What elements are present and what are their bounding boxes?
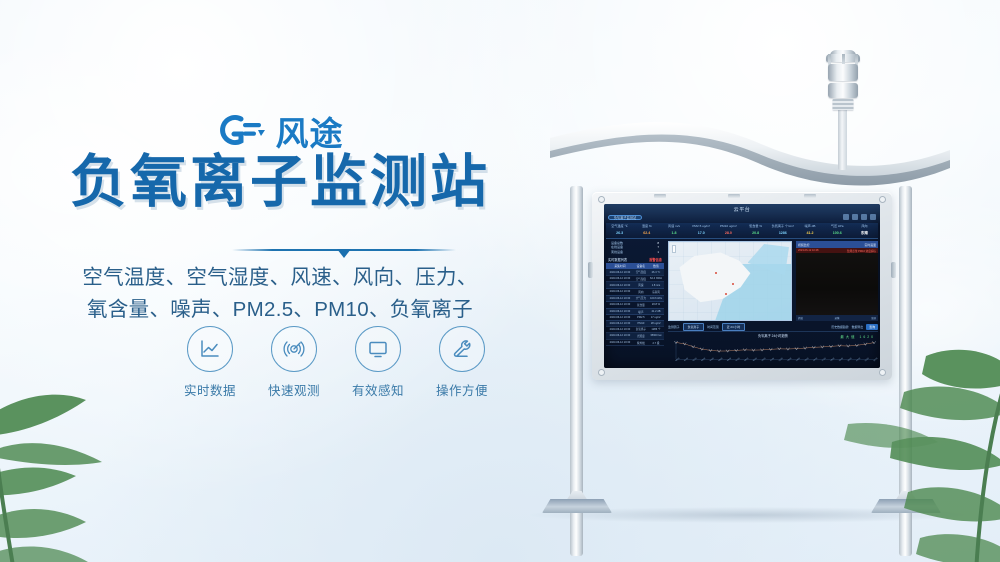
table-cell: 2023-06-12 10:30	[606, 326, 634, 333]
metric-label: 气压 kPa	[824, 223, 851, 230]
table-cell: 空气湿度	[634, 275, 648, 282]
metric-item: 氧含量 %20.8	[742, 223, 769, 238]
metric-item: 风速 m/s1.8	[660, 223, 687, 238]
table-cell: 2023-06-12 10:30	[606, 282, 634, 289]
wrench-icon	[439, 326, 485, 372]
svg-text:05:00: 05:00	[718, 358, 723, 362]
ultrasonic-weather-sensor-icon	[816, 52, 870, 124]
video-controls[interactable]: 抓拍 录像 全屏	[796, 315, 878, 321]
svg-text:01:00: 01:00	[684, 358, 689, 362]
hinge-icon	[588, 262, 593, 278]
metric-item: 负氧离子 个/cm³1286	[769, 223, 796, 238]
base-plate-left	[542, 491, 612, 513]
metric-label: 风速 m/s	[660, 223, 687, 230]
summary-label: 离线设备	[611, 250, 623, 254]
table-cell: 2023-06-12 10:30	[606, 333, 634, 340]
video-tag: 实时画面	[864, 243, 876, 247]
table-row[interactable]: 2023-06-12 10:30大气压力100.6 kPa	[606, 295, 664, 302]
table-row[interactable]: 2023-06-12 10:30噪声41.2 dB	[606, 308, 664, 315]
alert-badge[interactable]: 报警信息	[649, 257, 662, 262]
feature-item-easy-operation[interactable]: 操作方便	[428, 326, 496, 399]
table-row[interactable]: 2023-06-12 10:30紫外线2.7 级	[606, 339, 664, 346]
table-cell: 62.4 %RH	[648, 275, 664, 282]
table-row[interactable]: 2023-06-12 10:30风速1.8 m/s	[606, 282, 664, 289]
table-row[interactable]: 2023-06-12 10:30负氧离子1286 个	[606, 326, 664, 333]
station-map[interactable]	[668, 241, 792, 321]
metric-item: 噪声 dB41.2	[796, 223, 823, 238]
chart-toolbar[interactable]: 监测因子 负氧离子 时间范围 近 24 小时 历史数据趋势 数据导出 查询	[668, 323, 878, 332]
table-heading-row: 实时数据列表 报警信息	[606, 257, 664, 262]
svg-text:06:00: 06:00	[727, 358, 732, 362]
svg-text:12:00: 12:00	[779, 358, 784, 362]
metric-strip: 空气温度 ℃26.3湿度 %62.4风速 m/s1.8PM2.5 ug/m³17…	[606, 223, 878, 239]
feature-label: 操作方便	[428, 380, 496, 399]
metric-item: PM2.5 ug/m³17.0	[688, 223, 715, 238]
fengtu-g-logo-icon	[217, 112, 269, 153]
canopy-roof	[546, 116, 956, 198]
svg-text:14:00: 14:00	[796, 358, 801, 362]
table-cell: 2023-06-12 10:30	[606, 339, 634, 346]
metric-label: 噪声 dB	[796, 223, 823, 230]
metric-label: 风向	[851, 223, 878, 230]
dashboard-title: 云平台	[604, 206, 880, 213]
bolt-icon	[598, 369, 605, 376]
metric-item: PM10 ug/m³28.0	[715, 223, 742, 238]
metric-item: 湿度 %62.4	[633, 223, 660, 238]
brand-logo: 风途	[0, 112, 560, 153]
table-cell: 2023-06-12 10:30	[606, 289, 634, 296]
factor-select[interactable]: 负氧离子	[683, 323, 705, 331]
table-cell: 氧含量	[634, 302, 648, 309]
range-select-label: 时间范围	[707, 325, 719, 329]
metric-label: 湿度 %	[633, 223, 660, 230]
svg-text:13:00: 13:00	[787, 358, 792, 362]
table-cell: 2023-06-12 10:30	[606, 302, 634, 309]
svg-text:11:00: 11:00	[770, 358, 775, 362]
left-panel: 设备总数8在线设备7离线设备1 实时数据列表 报警信息 采集时间设备名数值 20…	[606, 241, 664, 346]
metric-value: 26.3	[606, 230, 633, 237]
bolt-icon	[879, 196, 886, 203]
title-divider	[232, 245, 456, 259]
video-title-bar: 视频监控 实时画面	[796, 241, 878, 248]
metric-value: 1286	[769, 230, 796, 237]
table-cell: 2023-06-12 10:30	[606, 295, 634, 302]
realtime-data-table[interactable]: 采集时间设备名数值 2023-06-12 10:30空气温度26.3 ℃2023…	[606, 263, 664, 346]
metric-item: 风向东南	[851, 223, 878, 238]
metric-value: 东南	[851, 230, 878, 237]
device-summary: 设备总数8在线设备7离线设备1	[606, 241, 664, 254]
metric-value: 62.4	[633, 230, 660, 237]
decorative-plant-left	[0, 352, 180, 562]
query-button[interactable]: 查询	[866, 324, 878, 330]
table-cell: 2023-06-12 10:30	[606, 308, 634, 315]
table-cell: 100.6 kPa	[648, 295, 664, 302]
table-cell: 风向	[634, 289, 648, 296]
metric-value: 1.8	[660, 230, 687, 237]
brand-name: 风途	[276, 117, 344, 150]
feature-label: 实时数据	[176, 380, 244, 399]
video-snapshot-button[interactable]: 抓拍	[798, 316, 803, 320]
feature-label: 快速观测	[260, 380, 328, 399]
metric-value: 100.6	[824, 230, 851, 237]
feature-item-realtime-data[interactable]: 实时数据	[176, 326, 244, 399]
user-icon[interactable]	[870, 214, 876, 220]
map-zoom-control[interactable]	[672, 245, 676, 253]
dashboard-toolbar-icons[interactable]	[843, 214, 876, 220]
range-select[interactable]: 近 24 小时	[722, 323, 746, 331]
feature-item-fast-observation[interactable]: 快速观测	[260, 326, 328, 399]
video-fullscreen-button[interactable]: 全屏	[871, 316, 876, 320]
metric-label: PM2.5 ug/m³	[688, 223, 715, 230]
table-cell: 41.2 dB	[648, 308, 664, 315]
table-row[interactable]: 2023-06-12 10:30氧含量20.8 %	[606, 302, 664, 309]
alert-message: 监测点位 PM10 浓度超标	[847, 249, 876, 253]
svg-text:16:00: 16:00	[813, 358, 818, 362]
chart-icon[interactable]	[852, 214, 858, 220]
radar-scan-icon	[271, 326, 317, 372]
metric-label: 氧含量 %	[742, 223, 769, 230]
svg-text:07:00: 07:00	[736, 358, 741, 362]
subtitle-line-1: 空气温度、空气湿度、风速、风向、压力、	[82, 266, 477, 289]
export-tip[interactable]: 数据导出	[852, 325, 864, 329]
table-cell: 负氧离子	[634, 326, 648, 333]
summary-value: 1	[657, 250, 659, 254]
bolt-icon	[598, 196, 605, 203]
metric-label: 空气温度 ℃	[606, 223, 633, 230]
table-cell: 紫外线	[634, 339, 648, 346]
trend-tip: 历史数据趋势	[831, 325, 848, 329]
table-heading: 实时数据列表	[608, 257, 627, 262]
table-cell: 1.8 m/s	[648, 282, 664, 289]
svg-text:09:00: 09:00	[753, 358, 758, 362]
metric-item: 空气温度 ℃26.3	[606, 223, 633, 238]
table-cell: 20.8 %	[648, 302, 664, 309]
table-cell: 1286 个	[648, 326, 664, 333]
svg-text:08:00: 08:00	[744, 358, 749, 362]
metric-item: 气压 kPa100.6	[824, 223, 851, 238]
summary-row: 离线设备1	[606, 250, 664, 254]
table-cell: 噪声	[634, 308, 648, 315]
dashboard-screen[interactable]: 云平台 负氧离子监测站 空气温度 ℃26.3湿度 %62.4风速 m/s1.8P…	[604, 204, 880, 368]
metric-label: PM10 ug/m³	[715, 223, 742, 230]
subtitle-line-2: 氧含量、噪声、PM2.5、PM10、负氧离子	[0, 294, 560, 326]
table-cell: 光照度	[634, 333, 648, 340]
feature-item-effective-sensing[interactable]: 有效感知	[344, 326, 412, 399]
line-chart-icon	[187, 326, 233, 372]
monitor-icon	[355, 326, 401, 372]
video-title: 视频监控	[798, 243, 810, 247]
table-row[interactable]: 2023-06-12 10:30光照度35600 lux	[606, 333, 664, 340]
table-cell: 风速	[634, 282, 648, 289]
feature-list: 实时数据 快速观测 有效感知	[176, 326, 496, 399]
factor-select-label: 监测因子	[668, 325, 680, 329]
divider-triangle-icon	[337, 249, 351, 258]
table-row[interactable]: 2023-06-12 10:30空气湿度62.4 %RH	[606, 275, 664, 282]
feature-label: 有效感知	[344, 380, 412, 399]
alert-time: 2023-06-12 10:28	[798, 249, 818, 252]
svg-text:03:00: 03:00	[701, 358, 706, 362]
hinge-icon	[891, 262, 896, 278]
subtitle: 空气温度、空气湿度、风速、风向、压力、 氧含量、噪声、PM2.5、PM10、负氧…	[0, 262, 560, 326]
grid-icon[interactable]	[843, 214, 849, 220]
table-cell: 大气压力	[634, 295, 648, 302]
metric-value: 17.0	[688, 230, 715, 237]
svg-text:02:00: 02:00	[692, 358, 697, 362]
table-row[interactable]: 2023-06-12 10:30风向东南风	[606, 289, 664, 296]
svg-text:10:00: 10:00	[761, 358, 766, 362]
table-cell: 东南风	[648, 289, 664, 296]
metric-value: 28.0	[715, 230, 742, 237]
svg-text:04:00: 04:00	[710, 358, 715, 362]
video-alert-row: 2023-06-12 10:28 监测点位 PM10 浓度超标	[796, 248, 878, 253]
station-chip[interactable]: 负氧离子监测站	[608, 215, 642, 220]
page-title: 负氧离子监测站	[0, 152, 560, 214]
table-cell: 35600 lux	[648, 333, 664, 340]
table-cell: 2.7 级	[648, 339, 664, 346]
decorative-plant-right	[834, 346, 1000, 562]
video-record-button[interactable]: 录像	[834, 316, 839, 320]
metric-label: 负氧离子 个/cm³	[769, 223, 796, 230]
metric-value: 20.8	[742, 230, 769, 237]
table-cell: 2023-06-12 10:30	[606, 275, 634, 282]
svg-text:15:00: 15:00	[804, 358, 809, 362]
svg-text:17:00: 17:00	[822, 358, 827, 362]
metric-value: 41.2	[796, 230, 823, 237]
bell-icon[interactable]	[861, 214, 867, 220]
video-monitor-panel[interactable]: 视频监控 实时画面 2023-06-12 10:28 监测点位 PM10 浓度超…	[796, 241, 878, 321]
